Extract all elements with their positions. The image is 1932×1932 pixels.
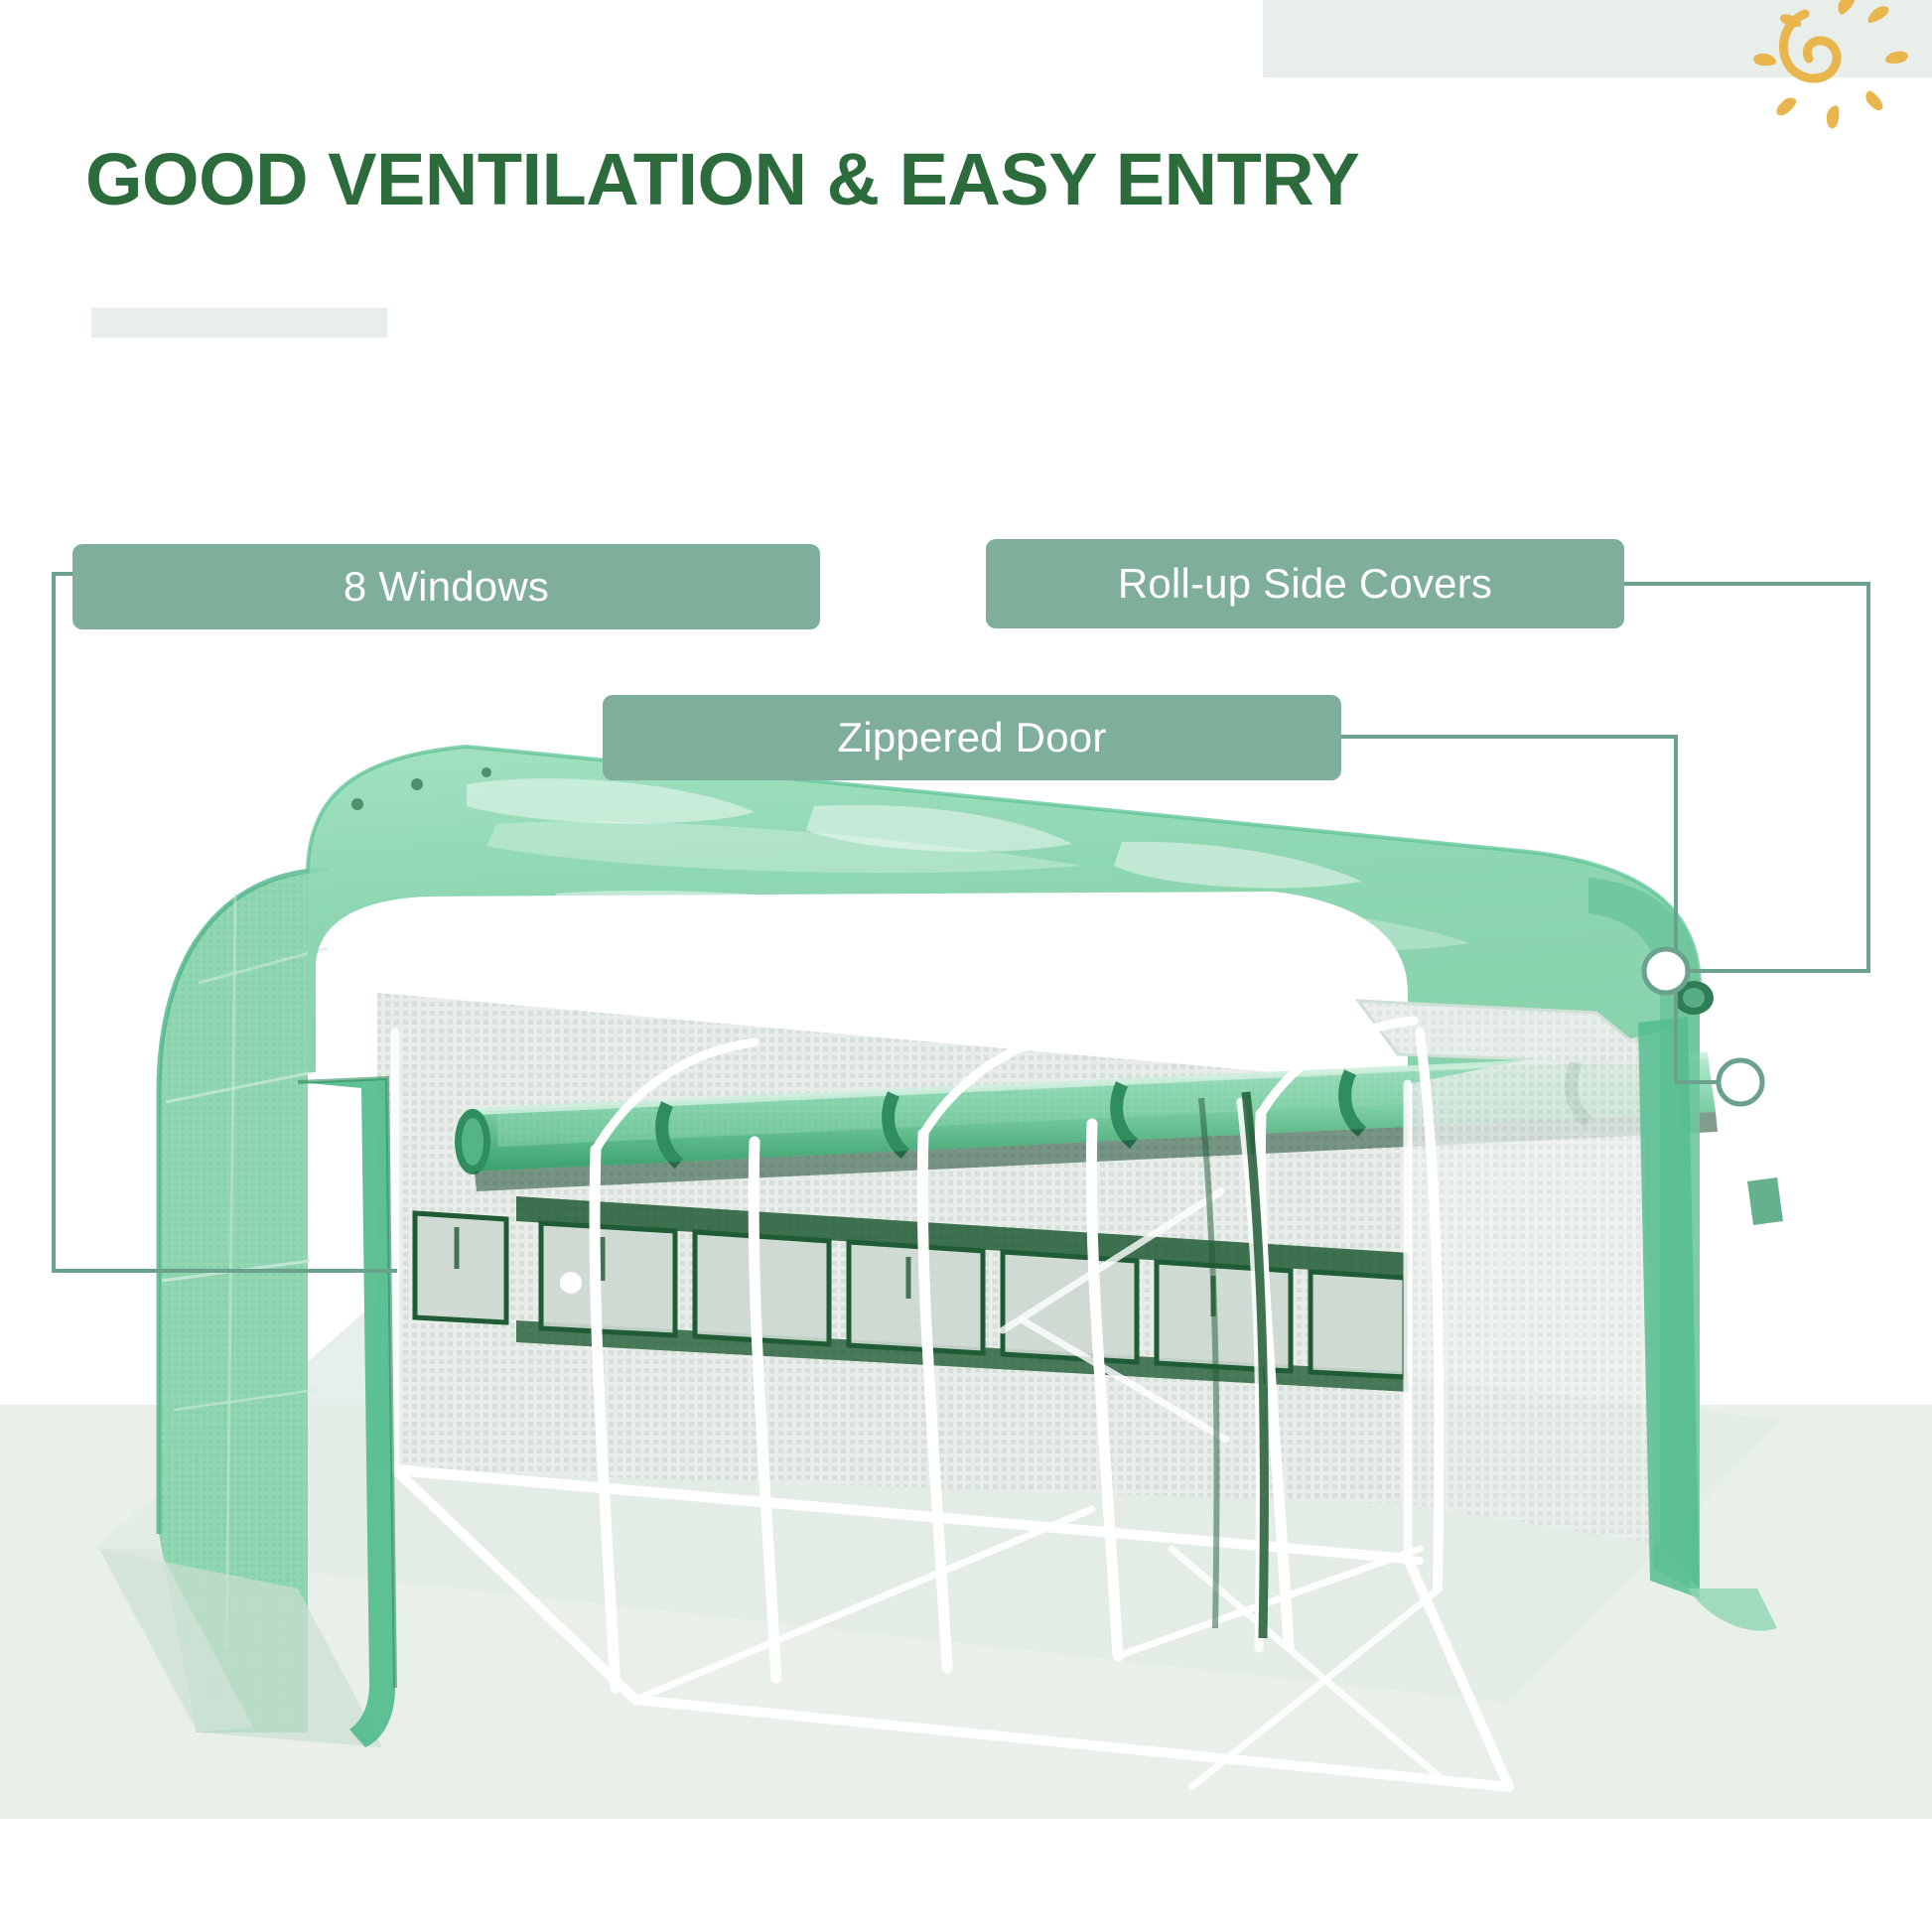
callout-label: Roll-up Side Covers bbox=[1118, 560, 1492, 608]
callout-label: 8 Windows bbox=[344, 563, 549, 611]
callout-8-windows[interactable]: 8 Windows bbox=[72, 544, 820, 629]
window-pane bbox=[541, 1223, 675, 1335]
callout-zippered-door[interactable]: Zippered Door bbox=[603, 695, 1341, 780]
window-pane bbox=[415, 1213, 506, 1322]
callout-label: Zippered Door bbox=[837, 714, 1106, 761]
callout-roll-up-side-covers[interactable]: Roll-up Side Covers bbox=[986, 539, 1624, 628]
window-pane bbox=[695, 1232, 829, 1344]
window-pane bbox=[1311, 1272, 1405, 1377]
window-pane bbox=[849, 1242, 983, 1353]
greenhouse-illustration bbox=[0, 0, 1932, 1932]
infographic-canvas: GOOD VENTILATION & EASY ENTRY bbox=[0, 0, 1932, 1932]
